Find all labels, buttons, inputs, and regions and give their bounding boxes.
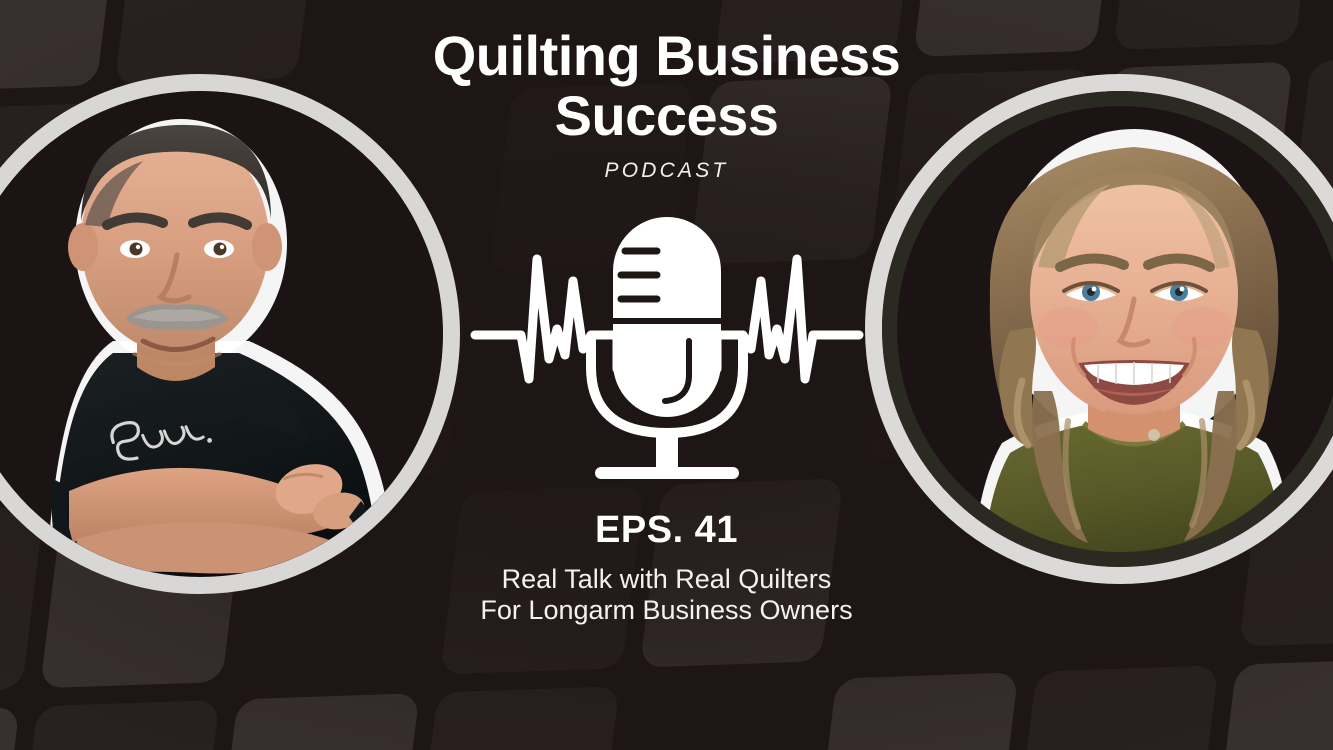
background-tile (0, 0, 119, 91)
background-tile (1014, 666, 1218, 750)
background-tile (114, 0, 318, 84)
host-right-photo (882, 91, 1333, 567)
episode-block: EPS. 41 Real Talk with Real Quilters For… (407, 509, 927, 627)
episode-subtitle-line-2: For Longarm Business Owners (407, 595, 927, 626)
background-tile (215, 693, 419, 750)
background-tile (914, 0, 1118, 57)
show-title-line-1: Quilting Business (433, 24, 901, 87)
podcast-cover: Man with gray mustache in black t-shirt,… (0, 0, 1333, 750)
background-tile (1214, 659, 1333, 750)
host-right-illustration (882, 91, 1333, 567)
host-portrait-right: Smiling woman with wavy light brown hair… (865, 74, 1333, 584)
host-portrait-left: Man with gray mustache in black t-shirt,… (0, 74, 460, 594)
host-left-photo (0, 91, 443, 577)
background-tile (1314, 0, 1333, 43)
microphone-waveform-icon (457, 209, 877, 487)
host-left-illustration (0, 91, 443, 577)
show-title: Quilting Business Success (432, 26, 902, 147)
episode-number: EPS. 41 (407, 509, 927, 552)
background-tile (15, 700, 219, 750)
episode-subtitle: Real Talk with Real Quilters For Longarm… (407, 564, 927, 627)
episode-subtitle-line-1: Real Talk with Real Quilters (407, 564, 927, 595)
podcast-label: PODCAST (605, 159, 729, 183)
show-title-line-2: Success (432, 86, 902, 146)
background-tile (0, 707, 19, 750)
microphone-capsule (613, 217, 721, 417)
microphone-waveform-graphic (457, 209, 877, 487)
cover-center-content: Quilting Business Success PODCAST (407, 0, 927, 750)
background-tile (1114, 0, 1318, 50)
